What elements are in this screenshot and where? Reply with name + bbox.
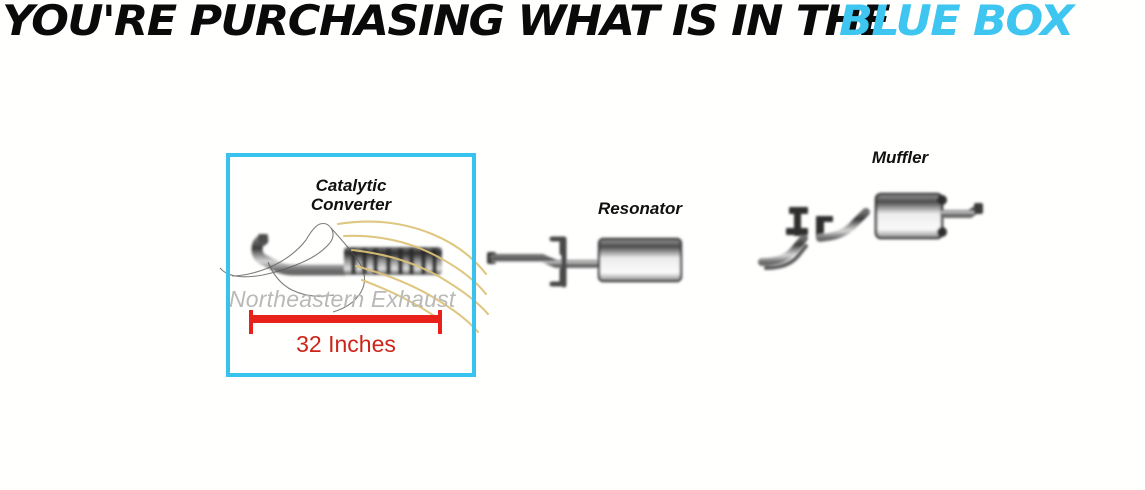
product-diagram-image: YOU'RE PURCHASING WHAT IS IN THE BLUE BO…: [0, 0, 1145, 490]
muffler-body: [876, 194, 942, 238]
muffler-hanger-stud-top: [937, 195, 947, 205]
measure-bar: [250, 315, 442, 323]
muffler-hanger-stud-bottom: [937, 227, 947, 237]
tailpipe: [944, 208, 978, 214]
catalytic-converter-label: Catalytic Converter: [276, 176, 426, 214]
resonator-body: [599, 239, 681, 281]
rear-flange: [786, 207, 808, 236]
muffler-assembly: [876, 194, 983, 238]
rear-junction: [762, 207, 866, 268]
measure-value-text: 32 Inches: [250, 331, 442, 358]
muffler-inlet-pipe: [820, 212, 866, 238]
muffler-label: Muffler: [840, 148, 960, 167]
resonator-label: Resonator: [570, 199, 710, 218]
tailpipe-tip: [974, 203, 983, 214]
resonator-assembly: [487, 239, 789, 285]
exhaust-system-diagram: [0, 0, 1145, 490]
mid-pipe-front: [494, 258, 596, 264]
